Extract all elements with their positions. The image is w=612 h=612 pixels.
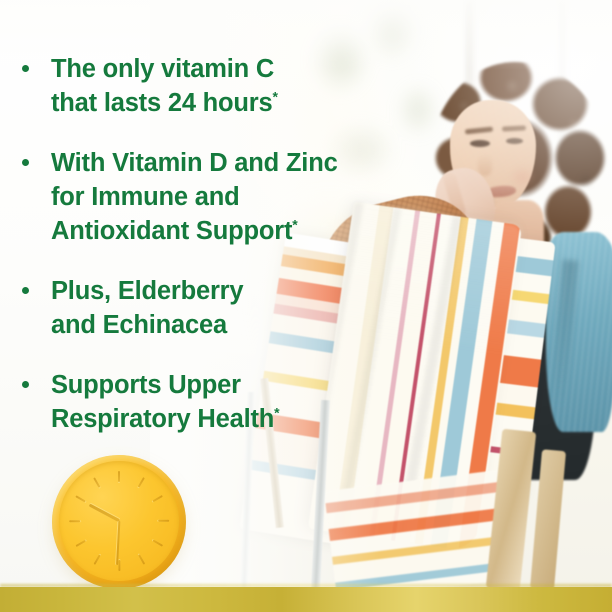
bullet-line: With Vitamin D and Zinc (51, 149, 338, 177)
clock-tick (152, 495, 163, 503)
clock-tick (93, 477, 101, 488)
benefit-bullet-list: The only vitamin C that lasts 24 hours* … (0, 52, 340, 462)
bullet-text: The only vitamin C that lasts 24 hours* (51, 52, 278, 120)
banner-canvas: The only vitamin C that lasts 24 hours* … (0, 0, 612, 612)
bullet-line: Antioxidant Support (51, 217, 292, 245)
footnote-marker: * (274, 405, 279, 421)
bullet-line: The only vitamin C (51, 55, 274, 83)
footer-gold-bar (0, 587, 612, 612)
clock-face (59, 461, 179, 581)
clock-tick (152, 539, 163, 547)
clock-tick (75, 495, 86, 503)
footnote-marker: * (273, 89, 278, 105)
list-item: The only vitamin C that lasts 24 hours* (0, 52, 340, 120)
bullet-text: Plus, Elderberry and Echinacea (51, 274, 243, 342)
bullet-dot-icon (22, 65, 29, 72)
bullet-line: Respiratory Health (51, 405, 274, 433)
clock-tick (137, 554, 145, 565)
bullet-line: that lasts 24 hours (51, 89, 273, 117)
footnote-marker: * (292, 217, 297, 233)
list-item: With Vitamin D and Zinc for Immune and A… (0, 146, 340, 248)
clock-tick (118, 471, 120, 482)
bullet-line: and Echinacea (51, 311, 227, 339)
bullet-dot-icon (22, 287, 29, 294)
list-item: Supports Upper Respiratory Health* (0, 368, 340, 436)
clock-icon (52, 455, 186, 589)
bullet-text: Supports Upper Respiratory Health* (51, 368, 279, 436)
bullet-line: Supports Upper (51, 371, 241, 399)
clock-hour-hand (88, 504, 119, 522)
clock-tick (137, 477, 145, 488)
bullet-dot-icon (22, 381, 29, 388)
list-item: Plus, Elderberry and Echinacea (0, 274, 340, 342)
clock-minute-hand (116, 521, 121, 565)
bullet-line: for Immune and (51, 183, 239, 211)
clock-tick (93, 554, 101, 565)
bullet-line: Plus, Elderberry (51, 277, 243, 305)
clock-tick (69, 520, 80, 522)
bullet-text: With Vitamin D and Zinc for Immune and A… (51, 146, 338, 248)
clock-tick (158, 520, 169, 522)
clock-tick (75, 539, 86, 547)
bullet-dot-icon (22, 159, 29, 166)
